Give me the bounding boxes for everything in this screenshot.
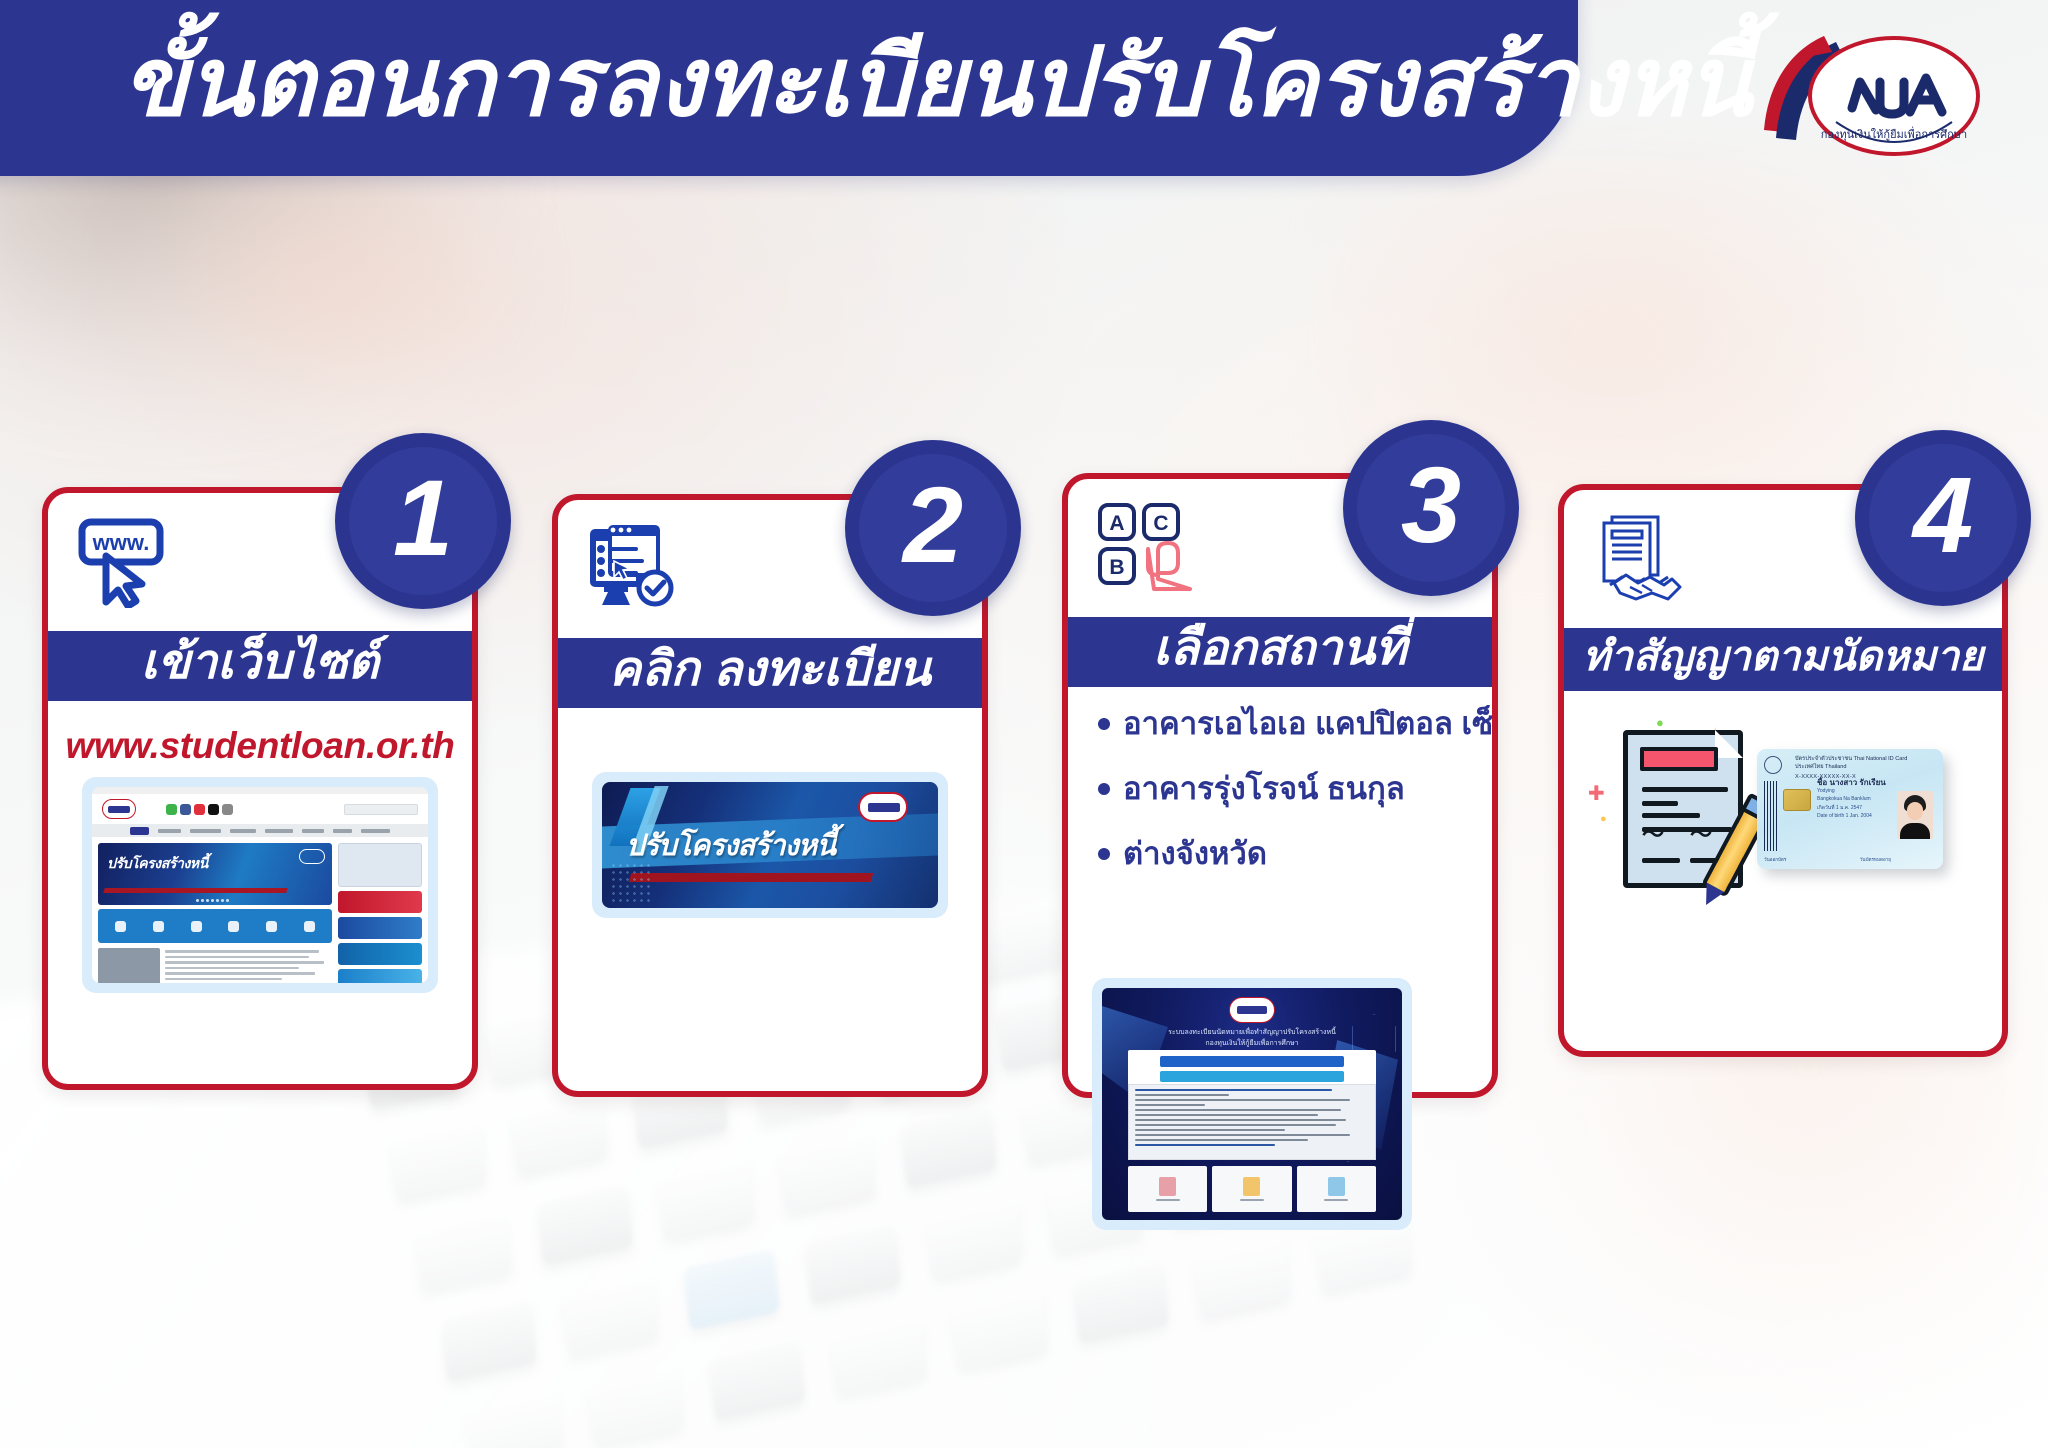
website-search-input[interactable] bbox=[344, 804, 418, 815]
chip-icon bbox=[1783, 789, 1811, 811]
www-address-bar-cursor-icon: www. bbox=[76, 516, 180, 608]
logo-subtitle-text: กองทุนเงินให้กู้ยืมเพื่อการศึกษา bbox=[1821, 126, 1967, 141]
step-4-title-bar: ทำสัญญาตามนัดหมาย bbox=[1564, 628, 2002, 691]
list-item[interactable]: ต่างจังหวัด bbox=[1098, 835, 1468, 874]
step-number-2: 2 bbox=[903, 471, 963, 579]
kys-logo-svg: กองทุนเงินให้กู้ยืมเพื่อการศึกษา bbox=[1754, 26, 2004, 174]
banner-logo-icon bbox=[858, 792, 908, 822]
svg-text:B: B bbox=[1109, 556, 1124, 579]
location-option-1: อาคารเอไอเอ แคปปิตอล เซ็นเตอร์ bbox=[1123, 705, 1492, 744]
list-item[interactable]: อาคารเอไอเอ แคปปิตอล เซ็นเตอร์ bbox=[1098, 705, 1468, 744]
page-title: ขั้นตอนการลงทะเบียนปรับโครงสร้างหนี้ bbox=[122, 33, 1752, 134]
barcode bbox=[1764, 781, 1777, 851]
portal-check-appointment-button[interactable] bbox=[1160, 1071, 1344, 1082]
website-navbar[interactable] bbox=[92, 824, 428, 837]
debt-restructuring-banner[interactable]: ปรับโครงสร้างหนี้ bbox=[592, 772, 948, 918]
id-card-name-en: Yodying bbox=[1817, 787, 1872, 796]
step-2-title: คลิก ลงทะเบียน bbox=[609, 646, 931, 694]
step-number-badge-2: 2 bbox=[845, 440, 1021, 616]
portal-tile-1[interactable] bbox=[1128, 1166, 1207, 1212]
website-quicklinks-row[interactable] bbox=[98, 909, 332, 943]
monitor-checklist-click-icon bbox=[586, 521, 686, 617]
website-hero-banner: ปรับโครงสร้างหนี้ bbox=[98, 843, 332, 905]
studentloan-homepage-screenshot: ปรับโครงสร้างหนี้ bbox=[82, 777, 438, 993]
website-sidebar[interactable] bbox=[338, 843, 422, 983]
step-2-title-bar: คลิก ลงทะเบียน bbox=[558, 638, 982, 708]
id-card-name-label: ชื่อ bbox=[1817, 778, 1827, 787]
step-number-badge-1: 1 bbox=[335, 433, 511, 609]
step-number-4: 4 bbox=[1913, 461, 1973, 569]
thai-national-id-card: บัตรประจำตัวประชาชน Thai National ID Car… bbox=[1757, 749, 1943, 869]
infographic-poster: ขั้นตอนการลงทะเบียนปรับโครงสร้างหนี้ กอง… bbox=[0, 0, 2048, 1448]
id-card-photo bbox=[1897, 791, 1933, 839]
portal-register-button[interactable] bbox=[1160, 1056, 1344, 1067]
step-number-badge-4: 4 bbox=[1855, 430, 2031, 606]
svg-text:www.: www. bbox=[92, 530, 150, 555]
title-banner: ขั้นตอนการลงทะเบียนปรับโครงสร้างหนี้ bbox=[0, 0, 1578, 176]
portal-tile-2[interactable] bbox=[1212, 1166, 1291, 1212]
id-card-lastname-en: Bangkokua Na Banklum bbox=[1817, 795, 1872, 804]
id-card-dob-th: เกิดวันที่ 1 ม.ค. 2547 bbox=[1817, 804, 1872, 813]
bullet-dot-icon bbox=[1098, 783, 1110, 795]
website-logo-icon bbox=[102, 799, 136, 819]
id-card-title: บัตรประจำตัวประชาชน Thai National ID Car… bbox=[1795, 755, 1937, 763]
step-2-body: ปรับโครงสร้างหนี้ bbox=[558, 708, 982, 1091]
id-card-expiry-date: วันบัตรหมดอายุ bbox=[1860, 856, 1891, 863]
step-1-title-bar: เข้าเว็บไซต์ bbox=[48, 631, 472, 701]
step-3-title-bar: เลือกสถานที่ bbox=[1068, 617, 1492, 687]
step-1-body: www.studentloan.or.th bbox=[48, 701, 472, 1084]
kys-logo: กองทุนเงินให้กู้ยืมเพื่อการศึกษา bbox=[1754, 26, 2004, 174]
list-item[interactable]: อาคารรุ่งโรจน์ ธนกุล bbox=[1098, 770, 1468, 809]
id-card-subtitle: ประเทศไทย Thailand bbox=[1795, 763, 1937, 771]
portal-step-tiles bbox=[1128, 1166, 1376, 1212]
step-number-badge-3: 3 bbox=[1343, 420, 1519, 596]
step-number-1: 1 bbox=[393, 464, 453, 572]
banner-text-rest: โครงสร้างหนี้ bbox=[676, 830, 835, 862]
svg-text:A: A bbox=[1109, 512, 1124, 535]
website-news-item[interactable] bbox=[98, 948, 332, 983]
contract-document-with-pen: 〜 〜 bbox=[1623, 730, 1743, 888]
id-card-dob-en: Date of birth 1 Jan. 2004 bbox=[1817, 812, 1872, 821]
studentloan-url[interactable]: www.studentloan.or.th bbox=[65, 725, 454, 767]
hero-text-bold: ปรับ bbox=[107, 855, 131, 871]
banner-text-bold: ปรับ bbox=[626, 830, 676, 862]
signed-contract-and-id-card: ● ✦ ✚ ● ✦ 〜 〜 bbox=[1582, 701, 1984, 916]
portal-notice-text bbox=[1128, 1084, 1376, 1160]
garuda-seal-icon bbox=[1764, 756, 1782, 774]
bullet-dot-icon bbox=[1098, 848, 1110, 860]
hero-logo-watermark bbox=[299, 849, 325, 864]
id-card-issue-date: วันออกบัตร bbox=[1764, 856, 1786, 863]
location-option-2: อาคารรุ่งโรจน์ ธนกุล bbox=[1123, 770, 1405, 809]
website-social-icons bbox=[166, 804, 233, 815]
step-3-title: เลือกสถานที่ bbox=[1153, 625, 1406, 673]
step-number-3: 3 bbox=[1401, 451, 1461, 559]
portal-logo-icon bbox=[1229, 997, 1275, 1023]
location-options-list: อาคารเอไอเอ แคปปิตอล เซ็นเตอร์ อาคารรุ่ง… bbox=[1086, 687, 1474, 873]
id-card-name: นางสาว รักเรียน bbox=[1829, 778, 1885, 787]
portal-heading-line2: กองทุนเงินให้กู้ยืมเพื่อการศึกษา bbox=[1136, 1039, 1368, 1050]
svg-text:C: C bbox=[1153, 512, 1168, 535]
bullet-dot-icon bbox=[1098, 718, 1110, 730]
step-1-title: เข้าเว็บไซต์ bbox=[141, 639, 379, 687]
abc-option-choice-icon: A C B bbox=[1096, 501, 1200, 595]
portal-tile-3[interactable] bbox=[1297, 1166, 1376, 1212]
step-4-body: ● ✦ ✚ ● ✦ 〜 〜 bbox=[1564, 691, 2002, 1051]
portal-heading-line1: ระบบลงทะเบียนนัดหมายเพื่อทำสัญญาปรับโครง… bbox=[1136, 1028, 1368, 1039]
step-4-title: ทำสัญญาตามนัดหมาย bbox=[1583, 636, 1983, 677]
contract-handshake-icon bbox=[1592, 513, 1690, 605]
hero-text-rest: โครงสร้างหนี้ bbox=[131, 855, 208, 871]
location-option-3: ต่างจังหวัด bbox=[1123, 835, 1267, 874]
appointment-registration-portal-screenshot[interactable]: ระบบลงทะเบียนนัดหมายเพื่อทำสัญญาปรับโครง… bbox=[1092, 978, 1412, 1230]
